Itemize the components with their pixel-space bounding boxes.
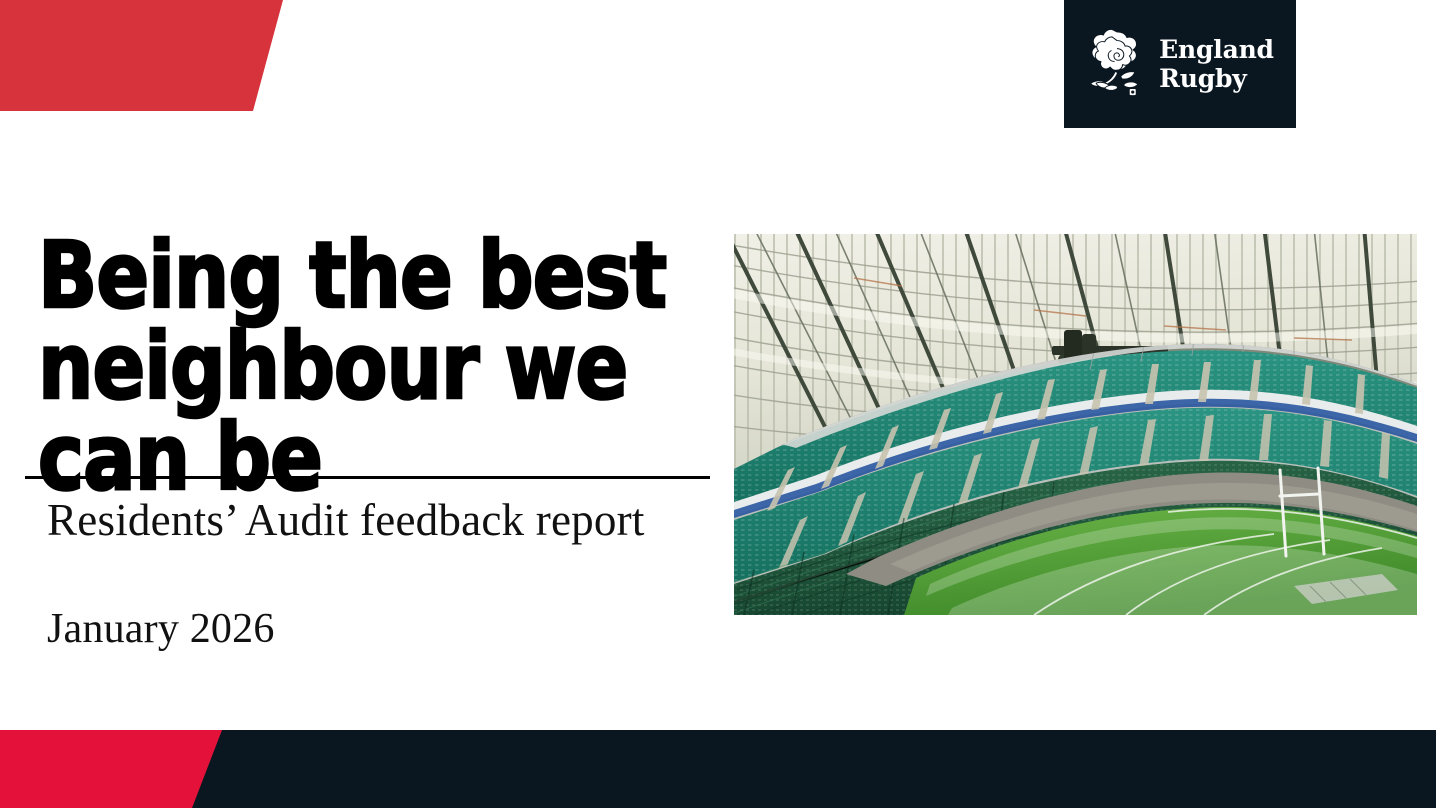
title-divider-rule — [25, 476, 710, 479]
stadium-photo — [734, 234, 1417, 615]
english-rose-icon — [1086, 27, 1148, 101]
slide-canvas: England Rugby Being the best neighbour w… — [0, 0, 1436, 808]
england-rugby-wordmark: England Rugby — [1159, 37, 1274, 91]
top-left-red-accent-shape — [0, 0, 290, 111]
title-line-1: Being the best — [38, 230, 677, 321]
title-line-2: neighbour we — [38, 321, 677, 412]
bottom-red-accent-shape — [0, 730, 230, 808]
logo-name-line-2: Rugby — [1159, 66, 1274, 91]
registered-mark-icon — [1129, 89, 1136, 96]
slide-subtitle: Residents’ Audit feedback report — [47, 497, 645, 543]
slide-date: January 2026 — [47, 608, 275, 650]
slide-title: Being the best neighbour we can be — [38, 230, 677, 503]
title-line-3: can be — [38, 412, 677, 503]
england-rugby-logo: England Rugby — [1064, 0, 1296, 128]
logo-name-line-1: England — [1159, 37, 1274, 62]
